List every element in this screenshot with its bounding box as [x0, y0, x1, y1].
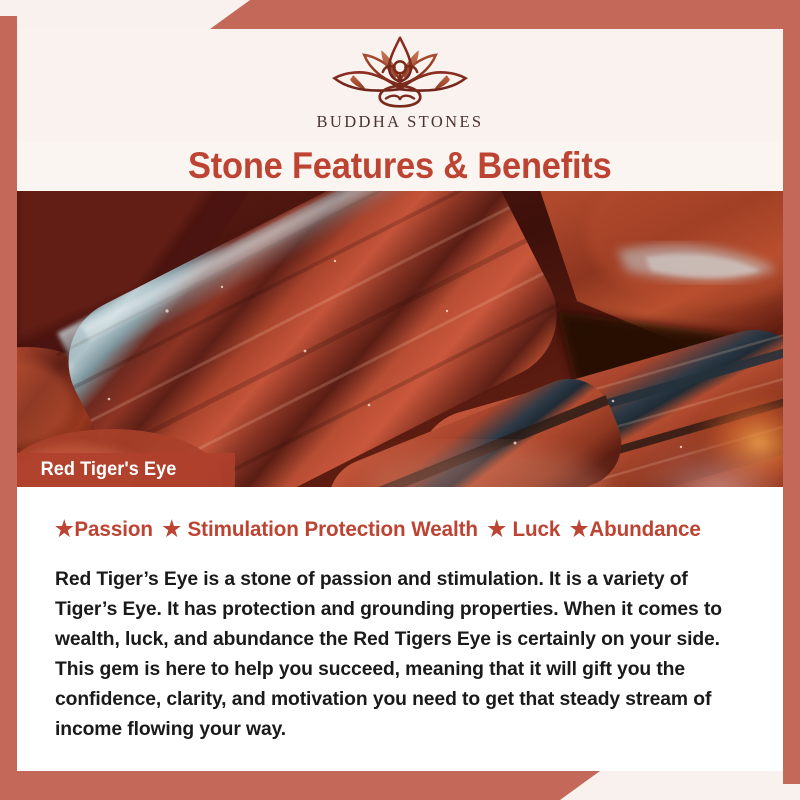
keyword-abundance: ★Abundance [570, 517, 701, 542]
title-bar: Stone Features & Benefits [17, 141, 783, 191]
keyword-list: ★Passion ★ Stimulation Protection Wealth… [55, 517, 717, 542]
keyword-luck: ★ Luck [487, 517, 560, 542]
keyword-stimulation-label: Stimulation Protection Wealth [187, 517, 477, 541]
hero-photo-region: Red Tiger's Eye [17, 191, 783, 487]
decorative-band-right [783, 0, 800, 784]
red-tigers-eye-stones-photo [17, 191, 783, 487]
star-icon: ★ [162, 517, 180, 541]
brand-wordmark: BUDDHA STONES [316, 112, 483, 132]
decorative-band-top-right [210, 0, 800, 29]
decorative-band-left [0, 16, 17, 800]
keyword-passion: ★Passion [55, 517, 153, 542]
lotus-meditation-icon [312, 33, 488, 111]
keyword-abundance-label: Abundance [589, 517, 701, 541]
benefits-section: ★Passion ★ Stimulation Protection Wealth… [17, 487, 783, 771]
star-icon: ★ [487, 517, 505, 541]
keyword-luck-label: Luck [513, 517, 561, 541]
page-title: Stone Features & Benefits [188, 145, 612, 187]
keyword-stimulation: ★ Stimulation Protection Wealth [162, 517, 477, 542]
decorative-band-bottom-left [0, 771, 600, 800]
brand-header: BUDDHA STONES [17, 29, 783, 141]
stone-description: Red Tiger’s Eye is a stone of passion an… [55, 564, 735, 744]
keyword-passion-label: Passion [74, 517, 152, 541]
inner-page: BUDDHA STONES Stone Features & Benefits [17, 29, 783, 771]
infographic-canvas: BUDDHA STONES Stone Features & Benefits [0, 0, 800, 800]
stone-name-ribbon: Red Tiger's Eye [17, 453, 235, 487]
star-icon: ★ [570, 517, 588, 541]
stone-name-label: Red Tiger's Eye [41, 459, 177, 481]
star-icon: ★ [55, 517, 73, 541]
